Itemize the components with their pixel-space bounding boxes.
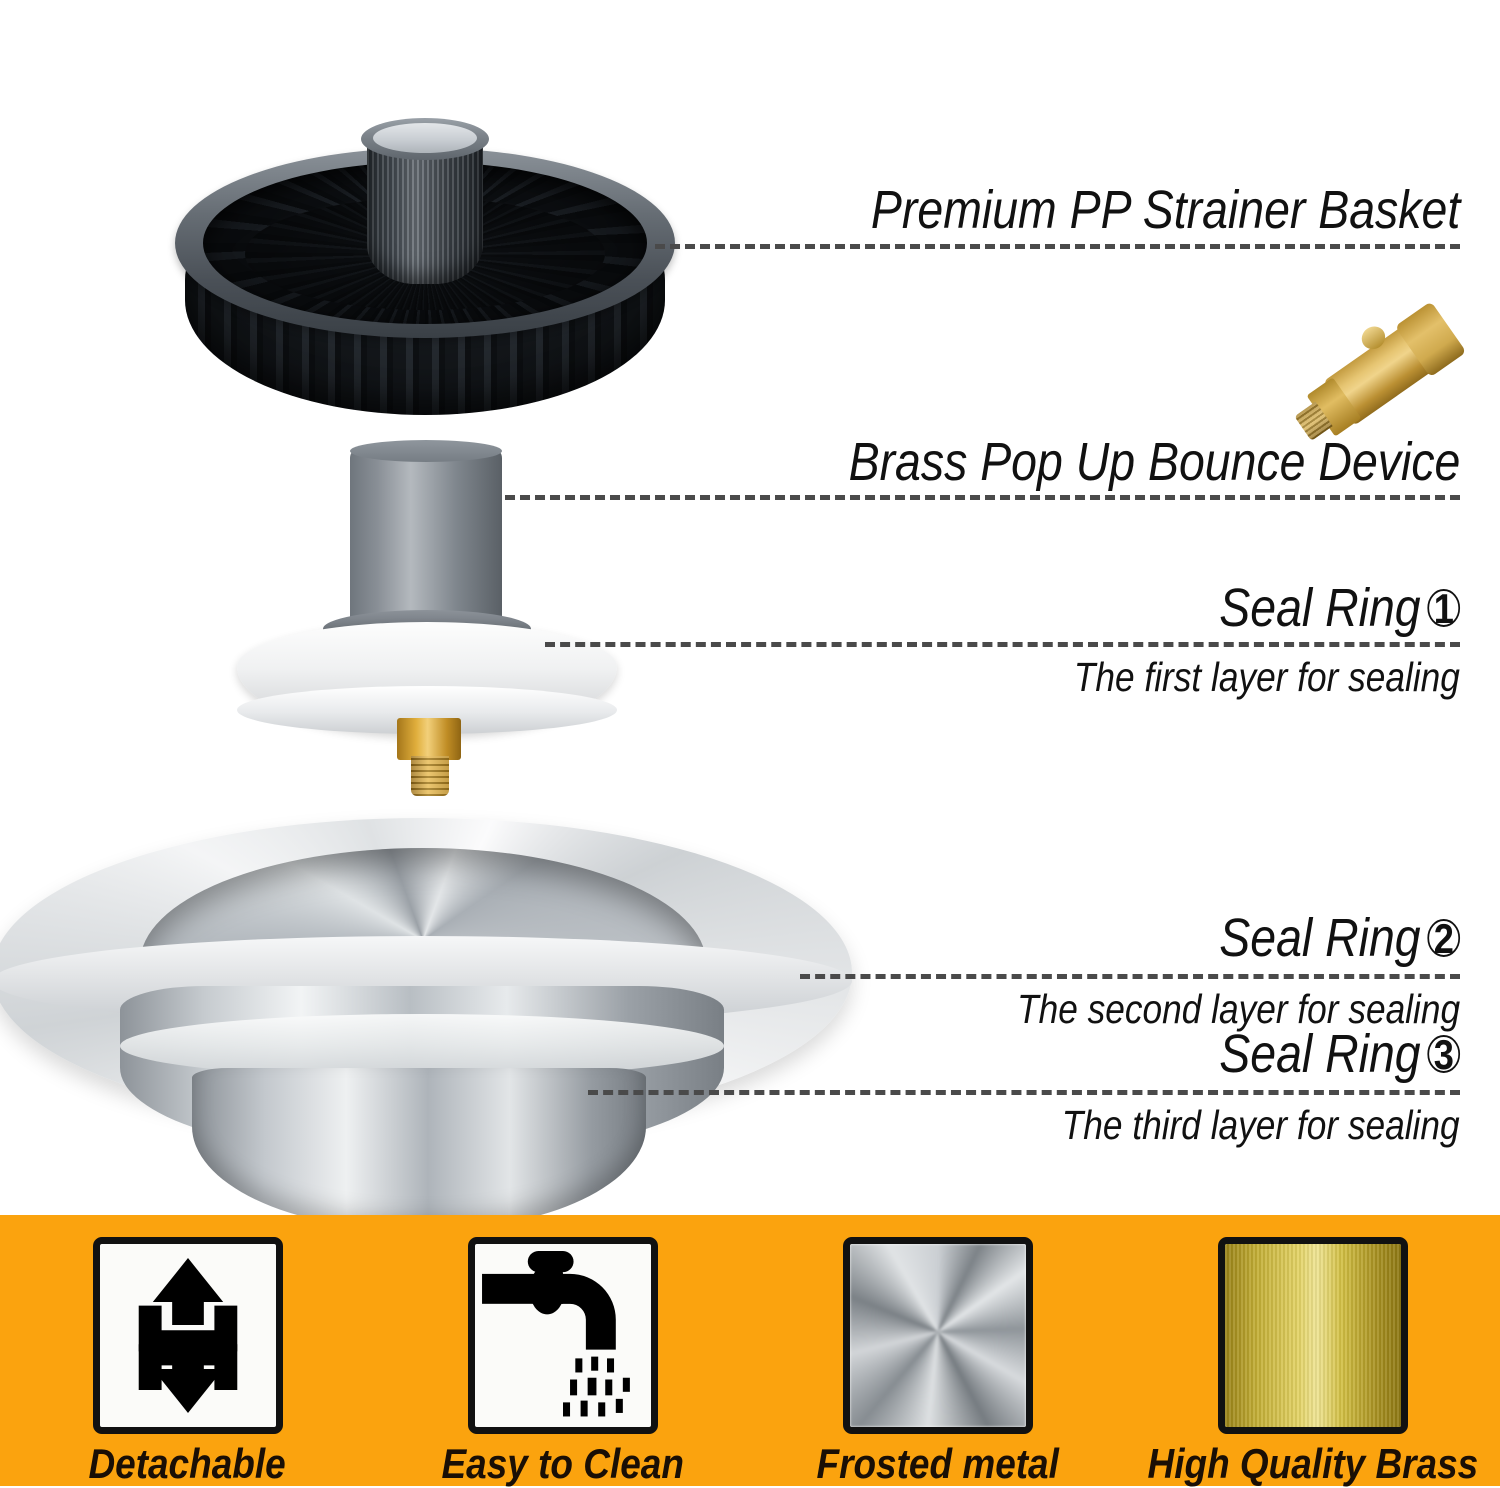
callout-text: Seal Ring [1219,578,1420,638]
seal-ring-1-badge: 1 [1427,589,1460,628]
exploded-product-diagram: Premium PP Strainer Basket Brass Pop Up … [0,0,1500,1215]
seal-ring-3-badge: 3 [1427,1035,1460,1074]
callout-label-seal-ring-1: Seal Ring1 [1219,578,1460,638]
callout-text: Seal Ring [1219,908,1420,968]
leader-line-brass-pop-up [505,495,1460,500]
up-down-arrows-icon [100,1244,276,1427]
drain-cup [192,1068,646,1230]
callout-sublabel-seal-ring-1: The first layer for sealing [1074,654,1460,700]
callout-text: Brass Pop Up Bounce Device [848,432,1460,492]
easy-to-clean-tile [468,1237,658,1434]
leader-line-seal-ring-1 [545,642,1460,647]
leader-line-seal-ring-2 [800,974,1460,979]
strainer-basket-image [175,110,675,420]
feature-brass: High Quality Brass [1163,1237,1463,1488]
callout-text: Premium PP Strainer Basket [871,180,1460,240]
feature-frosted-metal: Frosted metal [788,1237,1088,1488]
leader-line-seal-ring-3 [588,1090,1460,1095]
brushed-brass-swatch-icon [1225,1244,1401,1427]
callout-sublabel-seal-ring-3: The third layer for sealing [1062,1102,1460,1148]
feature-label-easy-to-clean: Easy to Clean [441,1440,683,1488]
brushed-steel-swatch-icon [850,1244,1026,1427]
callout-label-seal-ring-3: Seal Ring3 [1219,1024,1460,1084]
frosted-metal-tile [843,1237,1033,1434]
feature-easy-to-clean: Easy to Clean [413,1237,713,1488]
callout-label-seal-ring-2: Seal Ring2 [1219,908,1460,968]
leader-line-strainer-basket [655,244,1460,249]
stainless-drain-body-image [0,818,872,1208]
detachable-tile [93,1237,283,1434]
pop-up-stem-image [235,440,655,800]
stem-cylinder [350,448,502,636]
feature-label-frosted-metal: Frosted metal [816,1440,1058,1488]
feature-label-detachable: Detachable [89,1440,286,1488]
feature-banner: Detachable Easy to Cle [0,1215,1500,1486]
brass-hex-stud [397,718,461,760]
faucet-water-icon [475,1244,651,1427]
callout-label-strainer-basket: Premium PP Strainer Basket [871,180,1460,240]
feature-detachable: Detachable [38,1237,338,1488]
feature-label-brass: High Quality Brass [1147,1440,1478,1488]
brass-threaded-tip [411,756,449,796]
brass-tile [1218,1237,1408,1434]
callout-label-brass-pop-up: Brass Pop Up Bounce Device [848,432,1460,492]
callout-text: Seal Ring [1219,1024,1420,1084]
seal-ring-2-badge: 2 [1427,919,1460,958]
stem-top [350,440,502,462]
basket-knob-cap [373,123,477,153]
